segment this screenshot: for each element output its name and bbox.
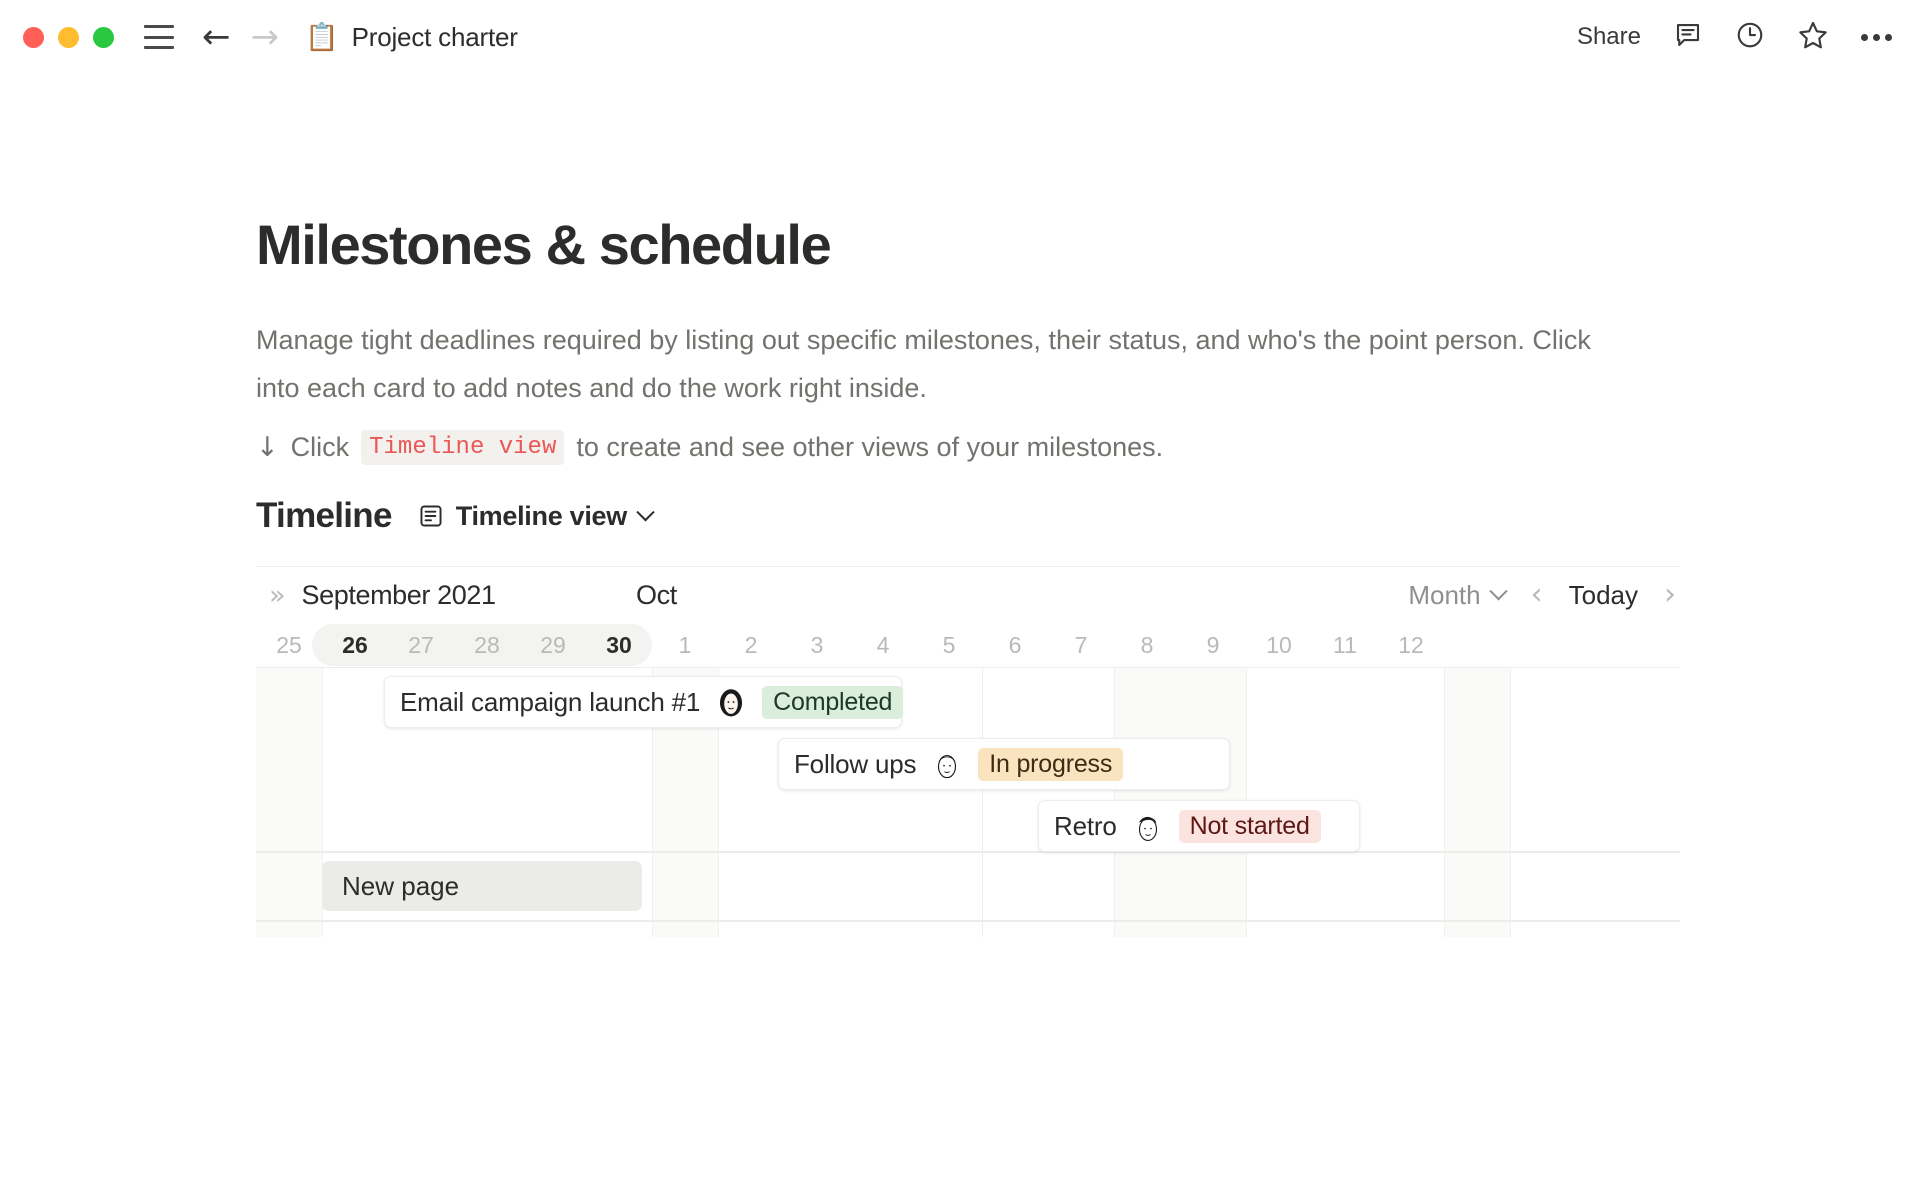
maximize-window-button[interactable]	[93, 27, 114, 48]
avatar-woman-dark-hair	[714, 685, 748, 719]
clipboard-icon: 📋	[305, 24, 339, 51]
timeline-view-label: Timeline view	[456, 501, 627, 532]
date-cell[interactable]: 2	[718, 632, 784, 659]
date-cell[interactable]: 27	[388, 632, 454, 659]
timeline-toolbar-right: Month ‹ Today ›	[1408, 580, 1680, 611]
timeline-month-secondary: Oct	[636, 580, 677, 611]
status-badge: Completed	[762, 686, 903, 719]
date-cell[interactable]: 11	[1312, 632, 1378, 659]
date-cell[interactable]: 3	[784, 632, 850, 659]
page-description: Manage tight deadlines required by listi…	[256, 316, 1616, 412]
tab-timeline-view[interactable]: Timeline view	[418, 501, 652, 532]
timeline-block-header: Timeline Timeline view	[256, 496, 652, 536]
timeline-card-title: Email campaign launch #1	[400, 687, 700, 718]
timeline-range-label: Month	[1408, 580, 1480, 611]
breadcrumb-title: Project charter	[352, 22, 518, 53]
window-titlebar: ← → 📋 Project charter Share	[0, 0, 1920, 74]
date-cell[interactable]: 29	[520, 632, 586, 659]
share-button[interactable]: Share	[1577, 23, 1641, 51]
date-cell[interactable]: 12	[1378, 632, 1444, 659]
list-view-icon	[418, 503, 444, 529]
grid-row-divider	[256, 920, 1680, 922]
hint-prefix: Click	[291, 432, 350, 463]
grid-column-divider	[982, 668, 983, 937]
breadcrumb[interactable]: 📋 Project charter	[305, 22, 518, 53]
sidebar-toggle-icon[interactable]	[144, 25, 174, 49]
hint-line: ↓ Click Timeline view to create and see …	[256, 430, 1163, 465]
avatar-man-short-hair	[930, 747, 964, 781]
date-cell[interactable]: 7	[1048, 632, 1114, 659]
date-cell[interactable]: 30	[586, 632, 652, 659]
timeline-card[interactable]: RetroNot started	[1038, 800, 1360, 852]
today-button[interactable]: Today	[1569, 580, 1638, 611]
hint-suffix: to create and see other views of your mi…	[576, 432, 1163, 463]
date-cell[interactable]: 25	[256, 632, 322, 659]
timeline-month-primary: September 2021	[302, 580, 496, 611]
chevron-down-icon	[636, 503, 654, 521]
down-arrow-icon: ↓	[256, 432, 279, 463]
timeline-range-selector[interactable]: Month	[1408, 580, 1504, 611]
date-cell[interactable]: 26	[322, 632, 388, 659]
topbar-actions: Share	[1577, 19, 1892, 56]
date-cell[interactable]: 8	[1114, 632, 1180, 659]
next-period-button[interactable]: ›	[1664, 580, 1676, 610]
star-icon[interactable]	[1797, 19, 1829, 56]
timeline-card[interactable]: Follow upsIn progress	[778, 738, 1230, 790]
expand-chevrons-icon[interactable]: »	[269, 582, 286, 609]
previous-period-button[interactable]: ‹	[1531, 580, 1543, 610]
date-cell[interactable]: 5	[916, 632, 982, 659]
forward-arrow-icon[interactable]: →	[251, 20, 280, 54]
date-cell[interactable]: 28	[454, 632, 520, 659]
timeline-toolbar: » September 2021 Oct Month ‹ Today ›	[256, 566, 1680, 623]
grid-column-divider	[1444, 668, 1445, 937]
avatar-man-wavy-hair	[1131, 809, 1165, 843]
date-cell[interactable]: 1	[652, 632, 718, 659]
minimize-window-button[interactable]	[58, 27, 79, 48]
navigation-arrows: ← →	[202, 20, 279, 54]
timeline-date-strip: 252627282930123456789101112	[256, 623, 1680, 667]
more-icon[interactable]	[1861, 34, 1892, 41]
grid-column-band	[1444, 668, 1510, 937]
date-cell[interactable]: 9	[1180, 632, 1246, 659]
status-badge: Not started	[1179, 810, 1321, 843]
timeline-board: » September 2021 Oct Month ‹ Today › 252…	[256, 566, 1680, 937]
close-window-button[interactable]	[23, 27, 44, 48]
timeline-card[interactable]: Email campaign launch #1Completed	[384, 676, 902, 728]
date-cell[interactable]: 6	[982, 632, 1048, 659]
date-cell[interactable]: 4	[850, 632, 916, 659]
timeline-heading: Timeline	[256, 496, 392, 536]
status-badge: In progress	[978, 748, 1123, 781]
timeline-card-title: Follow ups	[794, 749, 916, 780]
grid-row-divider	[256, 851, 1680, 853]
grid-column-divider	[1510, 668, 1511, 937]
back-arrow-icon[interactable]: ←	[202, 20, 231, 54]
traffic-light-group	[23, 27, 114, 48]
comment-icon[interactable]	[1673, 20, 1703, 55]
timeline-card-title: Retro	[1054, 811, 1117, 842]
chevron-down-icon	[1489, 582, 1507, 600]
timeline-grid: Email campaign launch #1CompletedFollow …	[256, 667, 1680, 937]
new-page-button[interactable]: New page	[322, 861, 642, 911]
inline-code-timeline-view: Timeline view	[361, 430, 564, 465]
date-cell[interactable]: 10	[1246, 632, 1312, 659]
page-title: Milestones & schedule	[256, 212, 830, 277]
grid-column-band	[256, 668, 322, 937]
history-icon[interactable]	[1735, 20, 1765, 55]
